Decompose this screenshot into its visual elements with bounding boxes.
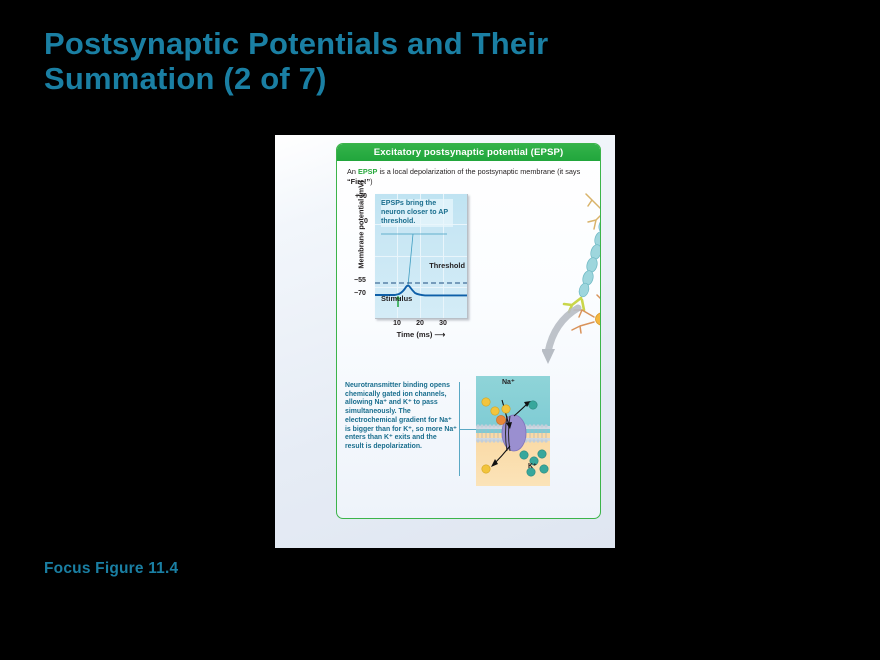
- page-title-line-2: Summation (2 of 7): [44, 61, 684, 96]
- page-title: Postsynaptic Potentials and Their Summat…: [44, 26, 684, 96]
- zoom-pointer-arrow: [542, 308, 578, 364]
- stimulus-label: Stimulus: [381, 294, 412, 303]
- epsp-header-bar: Excitatory postsynaptic potential (EPSP): [337, 144, 600, 161]
- figure-panel: Excitatory postsynaptic potential (EPSP)…: [275, 135, 615, 548]
- membrane-channel-inset: Na⁺ K⁺: [476, 376, 550, 486]
- chart-plot-area: EPSPs bring the neuron closer to AP thre…: [375, 194, 468, 319]
- epsp-chart: Membrane potential (mV): [341, 192, 473, 342]
- lower-caption-text: Neurotransmitter binding opens chemicall…: [345, 382, 457, 452]
- epsp-subtitle: An EPSP is a local depolarization of the…: [347, 167, 590, 186]
- epsp-callout-box: Excitatory postsynaptic potential (EPSP)…: [336, 143, 601, 519]
- chart-x-axis-label: Time (ms) ⟶: [375, 330, 467, 339]
- chart-xtick-30: 30: [439, 320, 447, 327]
- neuron-illustration: [542, 186, 601, 401]
- threshold-label: Threshold: [429, 261, 465, 270]
- sodium-ion-label: Na⁺: [502, 378, 515, 386]
- slide-root: Postsynaptic Potentials and Their Summat…: [0, 0, 880, 660]
- myelinated-axon: [577, 218, 601, 298]
- footer-figure-caption: Focus Figure 11.4: [44, 560, 178, 578]
- page-title-line-1: Postsynaptic Potentials and Their: [44, 26, 684, 61]
- chart-xtick-20: 20: [416, 320, 424, 327]
- subtitle-after: ): [370, 177, 372, 186]
- subtitle-epsp-highlight: EPSP: [358, 167, 377, 176]
- potassium-ion-label: K⁺: [528, 462, 537, 470]
- nucleus: [600, 316, 601, 321]
- chart-note-leader: [408, 234, 413, 286]
- chart-xticks: 10 20 30: [375, 320, 467, 330]
- page-title-count: (2 of 7): [223, 61, 326, 96]
- subtitle-middle: is a local depolarization of the postsyn…: [377, 167, 580, 176]
- page-title-main: Summation: [44, 61, 215, 96]
- presynaptic-neuron: [564, 189, 601, 312]
- soma: [596, 313, 602, 326]
- membrane-svg: [476, 376, 550, 486]
- subtitle-before: An: [347, 167, 358, 176]
- chart-xtick-10: 10: [393, 320, 401, 327]
- chart-annotation-note: EPSPs bring the neuron closer to AP thre…: [381, 199, 453, 227]
